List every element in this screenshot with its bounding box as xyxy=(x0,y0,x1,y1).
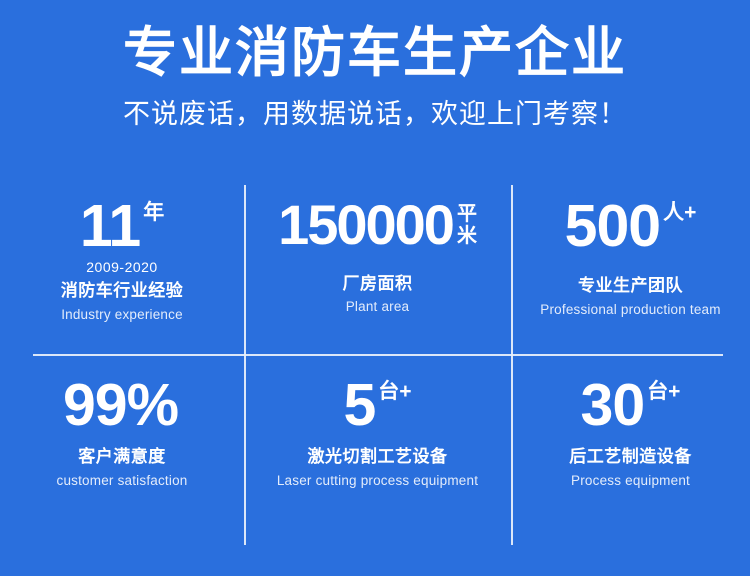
stat-cell-industry-experience: 11 年 2009-2020 消防车行业经验 Industry experien… xyxy=(0,185,244,354)
stat-label-cn: 厂房面积 xyxy=(343,273,413,294)
banner-header: 专业消防车生产企业 不说废话，用数据说话，欢迎上门考察！ xyxy=(0,0,750,130)
page-subtitle: 不说废话，用数据说话，欢迎上门考察！ xyxy=(0,98,750,130)
stat-year-range: 2009-2020 xyxy=(86,260,157,274)
stat-cell-laser-cutting: 5 台+ 激光切割工艺设备 Laser cutting process equi… xyxy=(244,354,511,545)
stat-label-en: Plant area xyxy=(346,298,410,316)
stat-label-cn: 后工艺制造设备 xyxy=(569,446,692,467)
stat-value: 99% xyxy=(63,378,178,432)
stat-unit: 平 米 xyxy=(457,199,477,248)
stat-unit-line-2: 米 xyxy=(457,225,477,247)
stat-cell-production-team: 500 人+ 专业生产团队 Professional production te… xyxy=(511,185,750,354)
stat-label-en: Professional production team xyxy=(540,301,720,319)
stat-label-cn: 专业生产团队 xyxy=(578,275,683,296)
stat-value-line: 150000 平 米 xyxy=(278,199,477,251)
stat-value-line: 500 人+ xyxy=(565,199,697,253)
promo-banner: 专业消防车生产企业 不说废话，用数据说话，欢迎上门考察！ 11 年 2009-2… xyxy=(0,0,750,576)
stat-unit-line-1: 平 xyxy=(457,203,477,225)
stat-cell-process-equipment: 30 台+ 后工艺制造设备 Process equipment xyxy=(511,354,750,545)
stat-value-line: 99% xyxy=(63,378,181,432)
stat-value: 30 xyxy=(581,378,645,432)
page-title: 专业消防车生产企业 xyxy=(0,22,750,84)
stat-label-en: Process equipment xyxy=(571,472,690,490)
stat-label-en: Laser cutting process equipment xyxy=(277,472,478,490)
stat-value: 5 xyxy=(343,378,375,432)
stats-grid: 11 年 2009-2020 消防车行业经验 Industry experien… xyxy=(0,185,750,545)
stat-value: 11 xyxy=(80,199,140,253)
stat-unit: 台+ xyxy=(647,378,680,402)
stat-unit: 人+ xyxy=(663,199,696,223)
stat-label-en: Industry experience xyxy=(61,306,183,324)
stat-value: 500 xyxy=(565,199,660,253)
stat-value-line: 5 台+ xyxy=(343,378,411,432)
stat-label-cn: 客户满意度 xyxy=(78,446,166,467)
stat-label-cn: 消防车行业经验 xyxy=(61,280,184,301)
stat-unit: 台+ xyxy=(378,378,411,402)
stat-unit: 年 xyxy=(143,199,164,223)
stat-value: 150000 xyxy=(278,199,453,251)
stat-cell-plant-area: 150000 平 米 厂房面积 Plant area xyxy=(244,185,511,354)
stat-cell-customer-satisfaction: 99% 客户满意度 customer satisfaction xyxy=(0,354,244,545)
stat-value-line: 30 台+ xyxy=(581,378,681,432)
stat-label-cn: 激光切割工艺设备 xyxy=(308,446,448,467)
stat-label-en: customer satisfaction xyxy=(57,472,188,490)
stat-value-line: 11 年 xyxy=(80,199,164,253)
